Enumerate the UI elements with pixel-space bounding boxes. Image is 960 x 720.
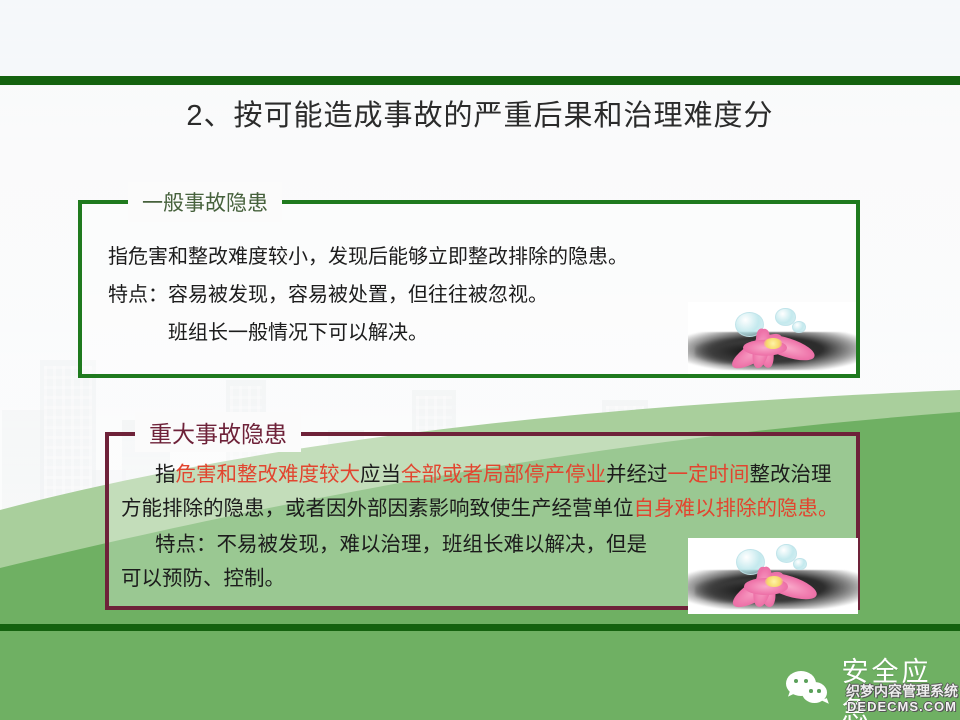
top-green-rule xyxy=(0,76,960,85)
wechat-dot xyxy=(809,689,813,693)
major-seg-6-highlight: 一定时间 xyxy=(668,463,750,486)
water-bubble-icon xyxy=(793,558,807,571)
major-seg-3: 应当 xyxy=(360,463,401,486)
major-feature-line-1-text: 特点：不易被发现，难以治理，班组长难以解决，但是 xyxy=(155,533,647,556)
major-hazard-paragraph: 指危害和整改难度较大应当全部或者局部停产停业并经过一定时间整改治理方能排除的隐患… xyxy=(121,458,842,526)
general-hazard-line-3-text: 班组长一般情况下可以解决。 xyxy=(168,322,428,344)
wechat-dot xyxy=(794,679,798,683)
wechat-dot xyxy=(804,679,808,683)
major-seg-2-highlight: 危害和整改难度较大 xyxy=(176,463,361,486)
page-title: 2、按可能造成事故的严重后果和治理难度分 xyxy=(0,96,960,136)
major-seg-5: 并经过 xyxy=(606,463,668,486)
dedecms-watermark: 织梦内容管理系统 DEDECMS.COM xyxy=(846,684,958,714)
wechat-bubble-tail xyxy=(821,698,829,706)
major-seg-4-highlight: 全部或者局部停产停业 xyxy=(401,463,606,486)
wechat-bubble-tail xyxy=(788,690,797,699)
watermark-cn-text: 织梦内容管理系统 xyxy=(846,684,958,699)
slide-canvas: 2、按可能造成事故的严重后果和治理难度分 一般事故隐患 指危害和整改难度较小，发… xyxy=(0,0,960,720)
water-bubble-icon xyxy=(792,321,806,333)
wechat-dot xyxy=(817,689,821,693)
general-hazard-line-1: 指危害和整改难度较小，发现后能够立即整改排除的隐患。 xyxy=(108,238,838,276)
major-seg-1: 指 xyxy=(155,463,176,486)
wechat-icon xyxy=(786,671,831,707)
major-seg-8-highlight: 自身难以排除的隐患。 xyxy=(634,497,839,520)
lotus-core xyxy=(764,338,782,349)
watermark-en-text: DEDECMS.COM xyxy=(846,699,958,714)
lotus-image-bottom xyxy=(688,538,858,614)
lotus-image-top xyxy=(688,302,856,374)
